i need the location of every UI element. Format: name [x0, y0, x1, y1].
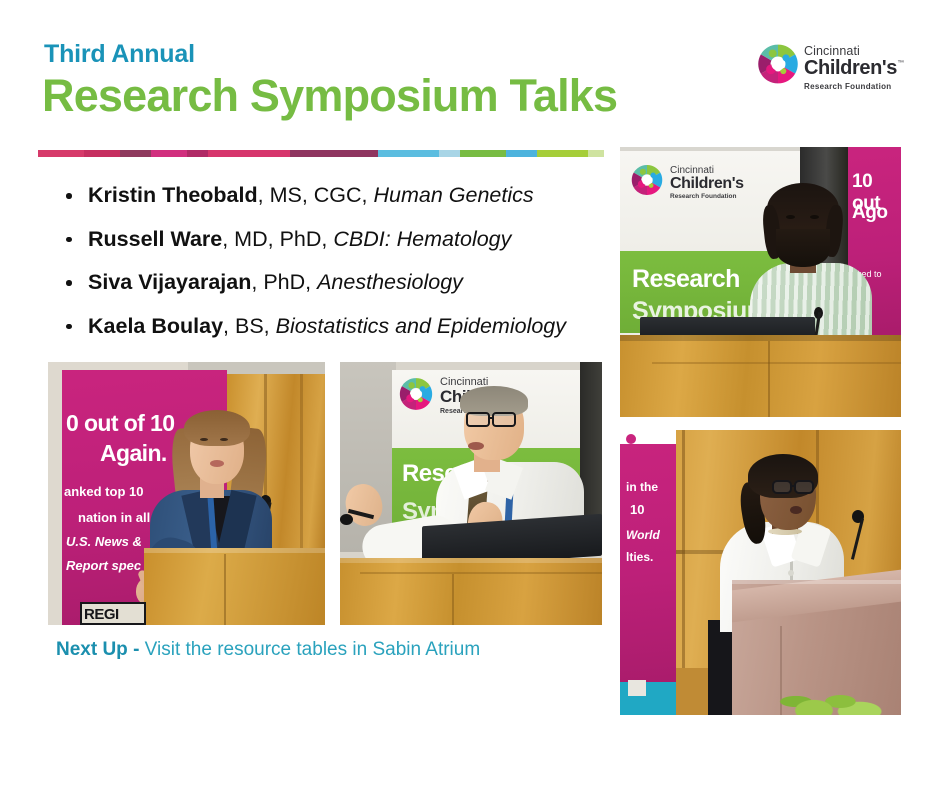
banner-bottom-white-block [628, 680, 646, 696]
page-title: Research Symposium Talks [42, 70, 617, 122]
pink-banner-line1: in the [626, 480, 658, 494]
pink-banner-word2: Again. [100, 440, 167, 467]
speaker-mouth [468, 442, 484, 450]
photo-speaker-top-right: Cincinnati Children's Research Foundatio… [620, 147, 901, 417]
wooden-podium [144, 548, 325, 625]
divider-segment-3 [151, 150, 187, 157]
cincinnati-childrens-logo: Cincinnati Children's™ Research Foundati… [756, 40, 896, 102]
trademark-symbol: ™ [897, 60, 904, 67]
divider-segment-4 [187, 150, 208, 157]
podium-edge-highlight [732, 580, 901, 584]
pink-banner-line6: Report spec [66, 558, 141, 573]
pink-banner-word2: Ago [852, 202, 887, 224]
logo-mark-icon [756, 42, 800, 86]
pink-banner-line5: U.S. News & [66, 534, 142, 549]
microphone-head [340, 514, 353, 525]
slide-canvas: Third Annual Research Symposium Talks Ci… [0, 0, 940, 788]
banner-logo-line3: Research Foundation [670, 193, 736, 200]
divider-segment-12 [588, 150, 603, 157]
logo-line-cincinnati: Cincinnati [804, 44, 897, 58]
podium-top-shadow [620, 335, 901, 341]
wall-seam-1 [682, 430, 685, 668]
glasses-bridge [489, 417, 494, 419]
glasses-lens-left [466, 412, 490, 427]
logo-line-research-foundation: Research Foundation [804, 82, 897, 91]
next-up-label: Next Up - [56, 639, 139, 660]
speaker-mouth [210, 460, 224, 467]
slide-kicker: Third Annual [44, 42, 195, 67]
divider-segment-11 [537, 150, 588, 157]
next-up-text: Visit the resource tables in Sabin Atriu… [139, 639, 480, 660]
banner-logo-mark-icon [630, 163, 664, 197]
speaker-department: Human Genetics [374, 183, 534, 207]
pink-banner-line3: World [626, 528, 660, 542]
divider-segment-8 [439, 150, 460, 157]
divider-segment-10 [506, 150, 537, 157]
speaker-credentials: , PhD, [251, 270, 317, 294]
speaker-credentials: , MD, PhD, [222, 227, 333, 251]
registration-sign-text: REGI [84, 606, 119, 623]
banner-dot-icon [626, 434, 636, 444]
wooden-podium [620, 335, 901, 417]
banner-logo-mark-icon [398, 376, 434, 412]
photo-speaker-bottom-middle: Cincinnati Children's Research Foundatio… [340, 362, 602, 625]
podium-seam-horizontal [652, 362, 901, 364]
divider-segment-5 [208, 150, 290, 157]
speaker-list-item: Kaela Boulay, BS, Biostatistics and Epid… [56, 313, 616, 341]
speaker-credentials: , BS, [223, 314, 276, 338]
color-divider-bar [38, 150, 604, 157]
speaker-name: Russell Ware [88, 227, 222, 251]
banner-word-research: Research [632, 265, 740, 294]
divider-segment-9 [460, 150, 506, 157]
blouse-button-1 [788, 570, 794, 576]
divider-segment-2 [120, 150, 151, 157]
speaker-department: Biostatistics and Epidemiology [276, 314, 566, 338]
speaker-eye-left [786, 215, 795, 219]
divider-segment-1 [84, 150, 120, 157]
divider-segment-6 [290, 150, 377, 157]
podium-seam-vertical [452, 574, 454, 625]
logo-line-childrens: Children's™ [804, 58, 897, 79]
speaker-eye-right [810, 215, 819, 219]
podium-seam-horizontal [360, 572, 602, 574]
speaker-list-item: Russell Ware, MD, PhD, CBDI: Hematology [56, 226, 616, 254]
speaker-credentials: , MS, CGC, [258, 183, 374, 207]
podium-edge-highlight [340, 558, 602, 563]
speaker-beard [776, 229, 830, 267]
pink-banner-line4: nation in all [78, 510, 150, 525]
pink-banner-word1: 0 out of 10 [66, 410, 174, 437]
wall-seam-2 [300, 362, 303, 552]
podium-seam [224, 554, 226, 625]
speaker-list-item: Siva Vijayarajan, PhD, Anesthesiology [56, 269, 616, 297]
glasses-lens-right [794, 480, 814, 494]
banner-logo-line2: Children's [670, 175, 744, 193]
speaker-name: Kaela Boulay [88, 314, 223, 338]
speaker-hair-top [184, 410, 250, 446]
foliage-plant [766, 670, 886, 715]
photo-speaker-bottom-right: in the 10 World lties. [620, 430, 901, 715]
divider-segment-7 [378, 150, 440, 157]
photo-speaker-bottom-left: 0 out of 10 Again. anked top 10 nation i… [48, 362, 325, 625]
glasses-bridge [791, 485, 796, 487]
next-up-caption: Next Up - Visit the resource tables in S… [56, 639, 480, 662]
glasses-lens-left [772, 480, 792, 494]
speaker-list: Kristin Theobald, MS, CGC, Human Genetic… [56, 182, 616, 356]
wooden-podium [340, 558, 602, 625]
pink-banner-line2: 10 [630, 502, 644, 517]
speaker-name: Kristin Theobald [88, 183, 258, 207]
pink-banner-line4: lties. [626, 550, 653, 564]
speaker-name: Siva Vijayarajan [88, 270, 251, 294]
speaker-mouth [790, 506, 802, 514]
speaker-list-item: Kristin Theobald, MS, CGC, Human Genetic… [56, 182, 616, 210]
pink-banner-line3: anked top 10 [64, 484, 143, 499]
logo-wordmark: Cincinnati Children's™ Research Foundati… [804, 44, 897, 91]
divider-segment-0 [38, 150, 84, 157]
podium-edge-highlight [144, 548, 325, 553]
glasses-lens-right [492, 412, 516, 427]
podium-seam-vertical [768, 341, 770, 417]
speaker-department: CBDI: Hematology [333, 227, 511, 251]
speaker-department: Anesthesiology [317, 270, 463, 294]
